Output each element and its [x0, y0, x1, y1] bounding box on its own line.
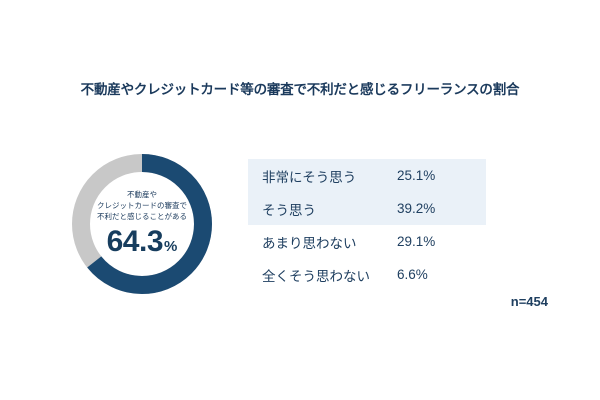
donut-chart: 不動産や クレジットカードの審査で 不利だと感じることがある 64.3 %: [68, 150, 216, 298]
legend-value: 29.1%: [397, 234, 435, 249]
legend-row: 全くそう思わない 6.6%: [248, 258, 486, 291]
sample-size-annotation: n=454: [511, 294, 548, 309]
legend-value: 39.2%: [397, 201, 435, 216]
page-title: 不動産やクレジットカード等の審査で不利だと感じるフリーランスの割合: [0, 78, 600, 98]
legend-row: 非常にそう思う 25.1%: [248, 159, 486, 192]
chart-page: 不動産やクレジットカード等の審査で不利だと感じるフリーランスの割合 不動産や ク…: [0, 0, 600, 400]
donut-svg: [68, 150, 216, 298]
legend-value: 6.6%: [397, 267, 428, 282]
legend-label: 全くそう思わない: [262, 265, 397, 285]
legend-label: あまり思わない: [262, 232, 397, 252]
legend-table: 非常にそう思う 25.1% そう思う 39.2% あまり思わない 29.1% 全…: [248, 159, 486, 291]
legend-row: そう思う 39.2%: [248, 192, 486, 225]
legend-row: あまり思わない 29.1%: [248, 225, 486, 258]
legend-value: 25.1%: [397, 168, 435, 183]
legend-label: そう思う: [262, 199, 397, 219]
legend-label: 非常にそう思う: [262, 166, 397, 186]
